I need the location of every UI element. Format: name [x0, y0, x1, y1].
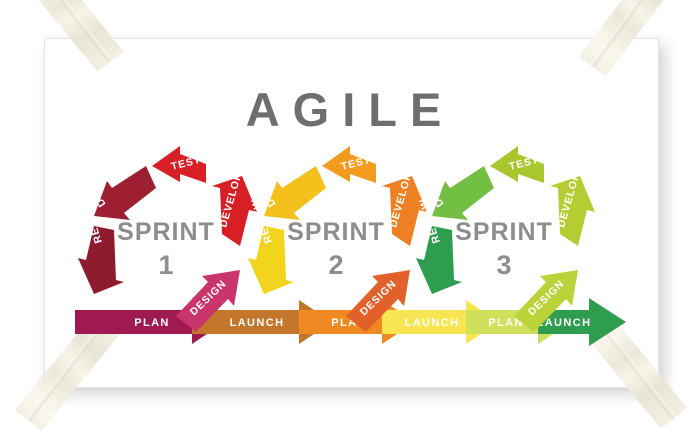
sprint-3-step-test[interactable]: TEST	[490, 146, 544, 183]
sprint-3-step-develop[interactable]: DEVELOP	[550, 171, 595, 246]
sprint-1-cycle: TEST DEVELOP DESIGN DEPLOY REVIEW S	[71, 146, 257, 332]
arrow-deploy	[432, 166, 494, 220]
sprint-1-number: 1	[158, 250, 173, 280]
agile-diagram: PLAN LAUNCH PLAN LAUNCH PLAN	[44, 38, 657, 386]
timeline-label: LAUNCH	[405, 317, 460, 329]
sprint-2-number: 2	[328, 250, 343, 280]
timeline-label: LAUNCH	[230, 317, 285, 329]
poster-canvas: AGILE PLAN LAUNCH PLAN LAUNCH	[0, 0, 700, 423]
sprint-3-cycle: TEST DEVELOP DESIGN DEPLOY REVIEW SPRINT…	[409, 146, 595, 332]
timeline-label: PLAN	[134, 317, 170, 329]
sprint-3-number: 3	[496, 250, 511, 280]
sprint-1-step-test[interactable]: TEST	[152, 146, 206, 183]
sprint-1-word: SPRINT	[117, 218, 215, 246]
sprint-2-step-test[interactable]: TEST	[322, 146, 376, 183]
sprint-2-word: SPRINT	[287, 218, 385, 246]
arrow-deploy	[264, 166, 326, 220]
arrow-deploy	[94, 166, 156, 220]
sprint-2-cycle: TEST DEVELOP DESIGN DEPLOY REVIEW SPRINT…	[241, 146, 427, 332]
sprint-3-word: SPRINT	[455, 218, 553, 246]
